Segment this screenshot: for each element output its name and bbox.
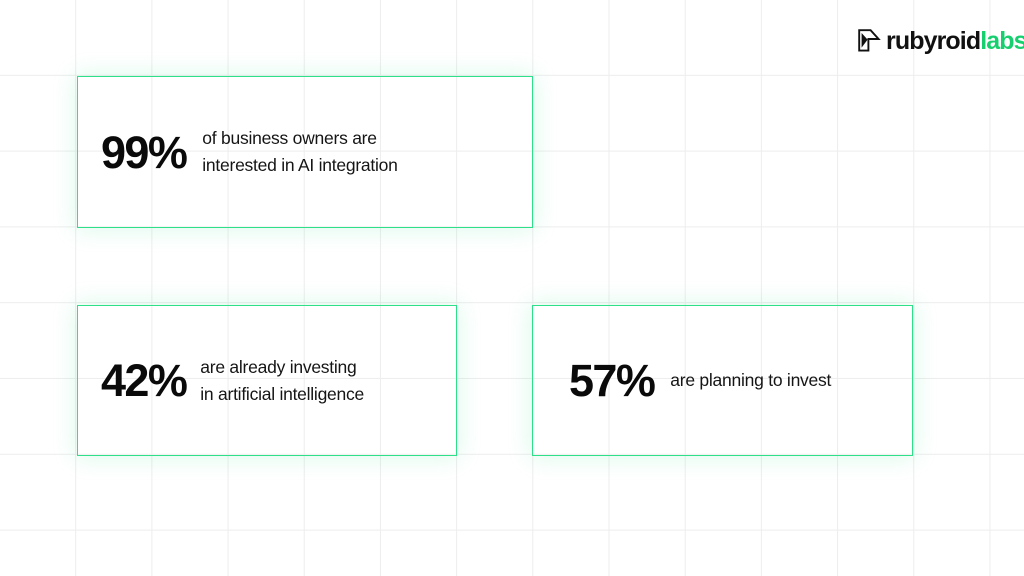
stat-card-content: 57% are planning to invest [533,358,912,403]
stat-card-content: 99% of business owners are interested in… [78,125,532,178]
stat-value: 57% [569,358,654,403]
brand-name-secondary: labs [980,27,1024,55]
stat-value: 99% [101,130,186,175]
stat-label: of business owners are interested in AI … [202,125,397,178]
stat-label: are already investing in artificial inte… [200,354,364,407]
stat-value: 42% [101,358,186,403]
brand-logo[interactable]: rubyroidlabs [856,25,1024,57]
stat-card-ai-interest: 99% of business owners are interested in… [77,76,533,228]
brand-logo-text: rubyroidlabs [886,29,1024,54]
rubyroid-mark-icon [856,28,882,54]
stat-card-planning-to-invest: 57% are planning to invest [532,305,913,456]
stat-label: are planning to invest [670,368,831,393]
stat-card-content: 42% are already investing in artificial … [78,354,456,407]
brand-name-primary: rubyroid [886,27,980,55]
slide-canvas: rubyroidlabs 99% of business owners are … [0,0,1024,576]
stat-card-already-investing: 42% are already investing in artificial … [77,305,457,456]
